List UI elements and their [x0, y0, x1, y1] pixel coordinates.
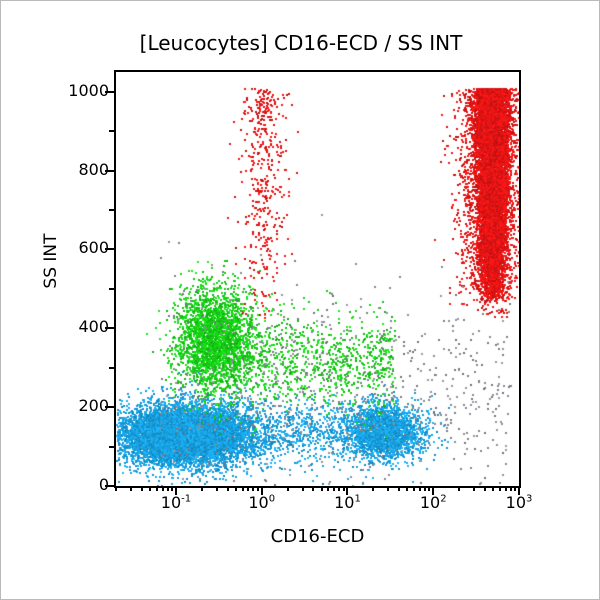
- x-axis-minor-tick: [321, 486, 323, 491]
- x-axis-minor-tick: [343, 486, 345, 491]
- y-axis-major-tick: [105, 170, 114, 172]
- x-axis-minor-tick: [514, 486, 516, 491]
- x-axis-tick-label: 100: [248, 493, 275, 512]
- x-axis-minor-tick: [458, 486, 460, 491]
- x-axis-minor-tick: [338, 486, 340, 491]
- y-axis-minor-tick: [109, 209, 114, 211]
- y-axis-tick-label: 0: [49, 475, 109, 494]
- y-axis-minor-tick: [109, 446, 114, 448]
- x-axis-tick-label: 103: [506, 493, 533, 512]
- x-axis-minor-tick: [201, 486, 203, 491]
- x-axis-minor-tick: [387, 486, 389, 491]
- x-axis-minor-tick: [312, 486, 314, 491]
- x-axis-minor-tick: [406, 486, 408, 491]
- y-axis-major-tick: [105, 248, 114, 250]
- y-axis-major-tick: [105, 91, 114, 93]
- x-axis-minor-tick: [492, 486, 494, 491]
- x-axis-minor-tick: [247, 486, 249, 491]
- x-axis-minor-tick: [327, 486, 329, 491]
- x-axis-minor-tick: [287, 486, 289, 491]
- x-axis-minor-tick: [413, 486, 415, 491]
- x-axis-minor-tick: [484, 486, 486, 491]
- y-axis-tick-label: 200: [49, 396, 109, 415]
- x-axis-minor-tick: [428, 486, 430, 491]
- y-axis-major-tick: [105, 327, 114, 329]
- x-axis-minor-tick: [115, 486, 117, 491]
- y-axis-tick-label: 800: [49, 160, 109, 179]
- x-axis-minor-tick: [171, 486, 173, 491]
- x-axis-minor-tick: [235, 486, 237, 491]
- x-axis-minor-tick: [141, 486, 143, 491]
- x-axis-minor-tick: [227, 486, 229, 491]
- x-axis-minor-tick: [216, 486, 218, 491]
- x-axis-minor-tick: [510, 486, 512, 491]
- y-axis-title: SS INT: [41, 201, 61, 321]
- x-axis-minor-tick: [398, 486, 400, 491]
- y-axis-tick-label: 1000: [49, 81, 109, 100]
- x-axis-minor-tick: [473, 486, 475, 491]
- y-axis-minor-tick: [109, 367, 114, 369]
- x-axis-minor-tick: [156, 486, 158, 491]
- y-axis-major-tick: [105, 485, 114, 487]
- x-axis-tick-label: 10-1: [161, 493, 191, 512]
- x-axis-minor-tick: [149, 486, 151, 491]
- flow-cytometry-plot: [Leucocytes] CD16-ECD / SS INT 020040060…: [0, 0, 600, 600]
- x-axis-title: CD16-ECD: [114, 526, 521, 547]
- x-axis-tick-label: 101: [334, 493, 361, 512]
- x-axis-minor-tick: [372, 486, 374, 491]
- x-axis-minor-tick: [419, 486, 421, 491]
- x-axis-minor-tick: [257, 486, 259, 491]
- x-axis-minor-tick: [499, 486, 501, 491]
- y-axis-minor-tick: [109, 288, 114, 290]
- y-axis-minor-tick: [109, 130, 114, 132]
- x-axis-minor-tick: [162, 486, 164, 491]
- x-axis-minor-tick: [302, 486, 304, 491]
- scatter-plot-area[interactable]: [116, 72, 519, 486]
- x-axis-minor-tick: [424, 486, 426, 491]
- x-axis-tick-label: 102: [420, 493, 447, 512]
- x-axis-minor-tick: [252, 486, 254, 491]
- x-axis-minor-tick: [167, 486, 169, 491]
- scatter-canvas[interactable]: [116, 72, 519, 486]
- x-axis-minor-tick: [505, 486, 507, 491]
- y-axis-major-tick: [105, 406, 114, 408]
- x-axis-minor-tick: [242, 486, 244, 491]
- x-axis-minor-tick: [130, 486, 132, 491]
- x-axis-minor-tick: [333, 486, 335, 491]
